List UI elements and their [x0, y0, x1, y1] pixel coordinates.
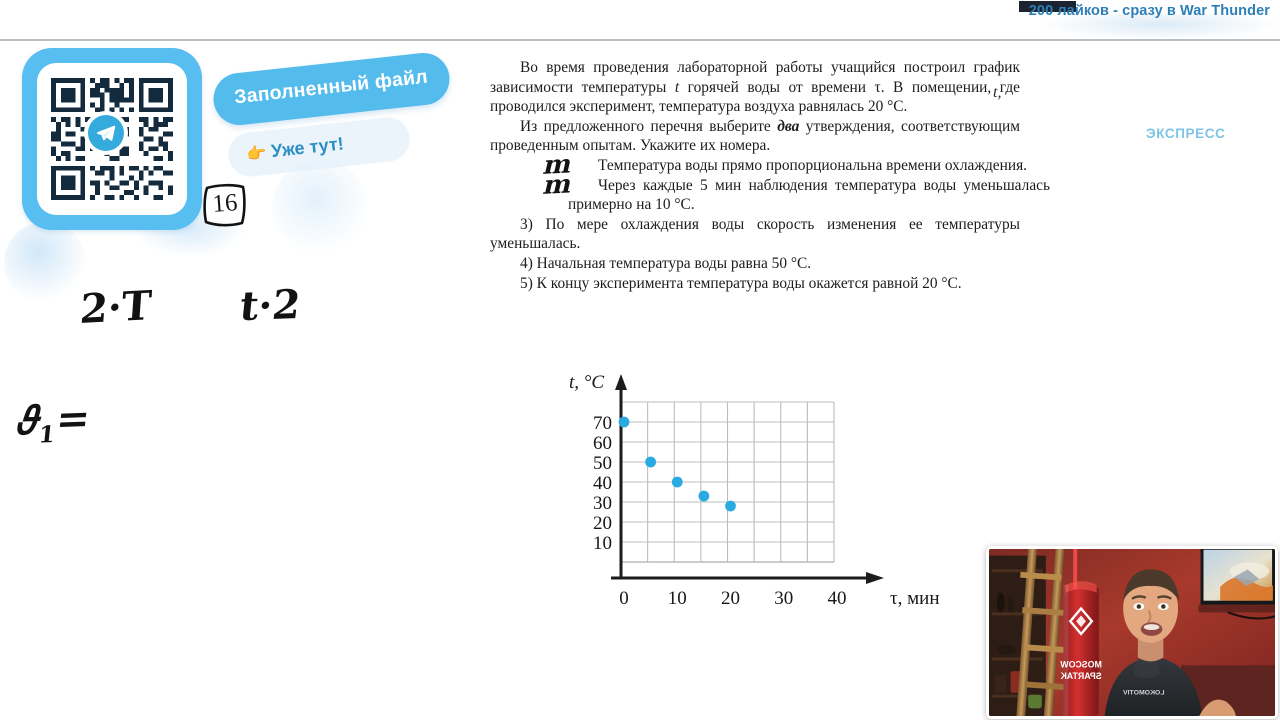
y-tick-label: 20 [593, 513, 612, 534]
chart-data-points [619, 417, 736, 512]
handwriting-note-2: t·2 [238, 281, 303, 330]
option-2-strike-mark: m [511, 171, 575, 200]
y-tick-label: 60 [593, 433, 612, 454]
webcam-frame: MOSCOW SPARTAK [989, 549, 1275, 716]
option-5-marker: 5) [520, 275, 537, 292]
express-label: ЭКСПРЕСС [1146, 126, 1225, 141]
option-2: mЧерез каждые 5 мин наблюдения температу… [490, 176, 1020, 215]
data-point [645, 457, 656, 468]
x-tick-label: 30 [774, 588, 793, 609]
handwriting-note-3-tail: = [54, 395, 92, 443]
y-axis-arrow [615, 374, 627, 390]
telegram-icon [88, 115, 124, 151]
option-4-marker: 4) [520, 255, 537, 272]
chart-gridlines [621, 402, 834, 562]
promo-pill-already-here-label: Уже тут! [270, 133, 345, 162]
webcam-overlay[interactable]: MOSCOW SPARTAK [986, 546, 1278, 719]
decorative-blob [272, 160, 368, 256]
option-3: 3) По мере охлаждения воды скорость изме… [490, 215, 1020, 254]
qr-card-inner [37, 63, 187, 215]
temperature-time-chart: 10203040506070010203040t, °Cτ, мин [560, 366, 940, 614]
chart-svg: 10203040506070010203040t, °Cτ, мин [560, 366, 940, 614]
data-point [725, 501, 736, 512]
problem-intro-paragraph-1: Во время проведения лабораторной работы … [490, 58, 1020, 117]
option-2-text: Через каждые 5 мин наблюдения температур… [520, 176, 1050, 215]
y-tick-label: 30 [593, 493, 612, 514]
option-5-text: К концу эксперимента температура воды ок… [537, 275, 962, 292]
option-4-text: Начальная температура воды равна 50 °C. [537, 255, 811, 272]
handwriting-note-1: 2·T [78, 282, 153, 333]
data-point [672, 477, 683, 488]
marginal-annotation: t, [993, 84, 1001, 102]
decorative-blob [4, 222, 86, 304]
x-axis-title: τ, мин [890, 588, 940, 609]
option-4: 4) Начальная температура воды равна 50 °… [490, 254, 1020, 274]
x-tick-label: 20 [721, 588, 740, 609]
x-axis-arrow [866, 572, 884, 584]
promo-pill-filled-file-label: Заполненный файл [233, 66, 429, 110]
top-banner: 200 лайков - сразу в War Thunder [0, 0, 1280, 41]
task-number-badge: 16 [203, 181, 247, 227]
x-tick-label: 40 [828, 588, 847, 609]
promo-pill-filled-file[interactable]: Заполненный файл [211, 50, 452, 127]
banner-text: 200 лайков - сразу в War Thunder [1029, 3, 1270, 19]
banner-divider [0, 39, 1280, 41]
option-3-text: По мере охлаждения воды скорость изменен… [490, 216, 1020, 253]
option-3-marker: 3) [520, 216, 545, 233]
y-axis-title: t, °C [569, 372, 604, 393]
qr-promo-card[interactable] [22, 48, 202, 230]
y-tick-label: 10 [593, 533, 612, 554]
x-tick-label: 10 [668, 588, 687, 609]
y-tick-label: 50 [593, 453, 612, 474]
option-1-text: Температура воды прямо пропорциональна в… [520, 156, 1027, 176]
shirt-text: LOKOMOTIV [1123, 690, 1165, 697]
options-list: mТемпература воды прямо пропорциональна … [490, 156, 1020, 293]
handwriting-note-3: 𝜗1= [15, 395, 92, 450]
x-tick-label: 0 [619, 588, 629, 609]
problem-statement: Во время проведения лабораторной работы … [490, 58, 1020, 293]
pointing-right-icon: 👉 [245, 143, 267, 165]
chart-axes [611, 374, 884, 584]
task-number-label: 16 [201, 180, 248, 229]
handwriting-note-3-sub: 1 [37, 421, 56, 449]
y-tick-label: 40 [593, 473, 612, 494]
data-point [698, 491, 709, 502]
y-tick-label: 70 [593, 413, 612, 434]
option-5: 5) К концу эксперимента температура воды… [490, 274, 1020, 294]
data-point [619, 417, 630, 428]
